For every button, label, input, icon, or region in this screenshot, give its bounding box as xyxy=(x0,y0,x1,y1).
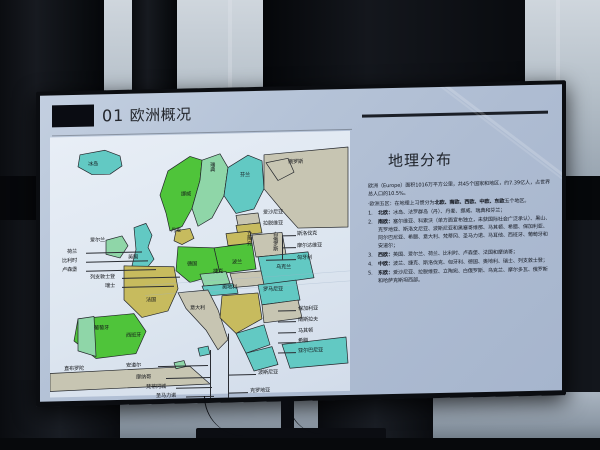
map-label: 瑞典 xyxy=(209,162,214,172)
five-regions-suffix: 五个地区。 xyxy=(504,198,529,205)
map-label: 瑞士 xyxy=(105,284,115,289)
region-item-name: 北欧： xyxy=(378,210,393,216)
five-regions-bold: 北欧、南欧、西欧、中欧、东欧 xyxy=(434,198,504,206)
region-item-number: 2. xyxy=(368,218,373,226)
map-label: 西班牙 xyxy=(126,333,141,339)
presentation-slide: 01 欧洲概况 xyxy=(40,84,562,401)
section-heading: 地理分布 xyxy=(388,149,452,171)
lower-window-right xyxy=(430,392,600,444)
tv-screen: 01 欧洲概况 xyxy=(40,84,562,401)
map-label: 比利时 xyxy=(62,259,77,265)
map-label: 白俄罗斯 xyxy=(272,232,277,251)
map-label: 摩尔达维亚 xyxy=(297,244,322,250)
region-list-item: 2.南欧：塞尔维亚、科索沃（单方面宣布独立，未获国际社会广泛承认）、黑山、克罗地… xyxy=(377,214,552,251)
map-label: 亚尔巴尼亚 xyxy=(298,349,323,355)
map-label: 匈牙利 xyxy=(297,256,312,262)
region-item-name: 西欧： xyxy=(378,252,393,258)
television: 01 欧洲概况 xyxy=(36,80,566,407)
map-label: 安道尔 xyxy=(126,363,141,369)
section-body: 欧洲（Europe）面积1016万平方公里，共45个国家和地区，约7.39亿人，… xyxy=(368,179,552,287)
map-label: 意大利 xyxy=(190,306,205,312)
map-label: 德国 xyxy=(187,262,197,267)
map-label: 丹麦 xyxy=(171,229,181,234)
region-item-name: 南欧： xyxy=(378,218,393,224)
map-label: 列支敦士登 xyxy=(90,275,115,281)
map-label: 南斯拉夫 xyxy=(298,318,318,324)
map-label: 法国 xyxy=(146,298,156,303)
geography-panel: 地理分布 欧洲（Europe）面积1016万平方公里，共45个国家和地区，约7.… xyxy=(362,110,554,388)
map-label: 拉脱维亚 xyxy=(263,221,283,227)
five-regions-prefix: ·欧洲五区：在地理上习惯分为 xyxy=(368,200,434,207)
map-label: 波斯尼亚 xyxy=(258,371,278,377)
map-label: 葡萄牙 xyxy=(94,326,109,332)
region-list-item: 5.东欧：爱沙尼亚、拉脱维亚、立陶宛、白俄罗斯、乌克兰、摩尔多瓦、俄罗斯和哈萨克… xyxy=(377,265,552,285)
region-item-countries: 爱沙尼亚、拉脱维亚、立陶宛、白俄罗斯、乌克兰、摩尔多瓦、俄罗斯和哈萨克斯坦西部。 xyxy=(378,266,548,284)
map-label: 俄罗斯 xyxy=(288,160,303,166)
map-label: 直布罗陀 xyxy=(64,367,84,373)
region-item-countries: 塞尔维亚、科索沃（单方面宣布独立，未获国际社会广泛承认）、黑山、克罗地亚、斯洛文… xyxy=(378,215,550,250)
map-label: 冰岛 xyxy=(88,162,98,167)
region-item-number: 4. xyxy=(368,260,373,268)
map-label: 波兰 xyxy=(232,260,242,265)
map-label: 英国 xyxy=(128,256,138,261)
europe-map-panel: 冰岛挪威瑞典芬兰俄罗斯爱尔兰英国丹麦爱沙尼亚拉脱维亚立陶宛白俄罗斯斯洛伐克摩尔达… xyxy=(50,131,350,398)
map-label: 克罗地亚 xyxy=(250,389,270,395)
map-label: 卢森堡 xyxy=(62,268,77,274)
map-label: 梵蒂冈城 xyxy=(146,385,166,391)
region-item-name: 中欧： xyxy=(378,261,393,267)
leader-line xyxy=(228,334,229,402)
page-title: 01 欧洲概况 xyxy=(102,103,192,126)
floor-shadow xyxy=(0,438,600,450)
map-label: 乌克兰 xyxy=(276,265,291,271)
map-label: 奥地利 xyxy=(222,285,237,291)
leader-line xyxy=(210,350,211,402)
map-label: 爱沙尼亚 xyxy=(263,210,283,216)
region-item-number: 5. xyxy=(368,269,373,277)
map-label: 立陶宛 xyxy=(246,231,251,246)
europe-map-graphic xyxy=(50,131,350,400)
map-label: 摩纳哥 xyxy=(136,375,151,381)
map-label: 荷兰 xyxy=(67,250,77,255)
title-accent-block xyxy=(52,105,94,128)
slide-number: 01 xyxy=(102,106,124,125)
map-label: 马其顿 xyxy=(298,329,313,335)
map-label: 圣马力诺 xyxy=(156,394,176,400)
photo-scene: 01 欧洲概况 xyxy=(0,0,600,450)
map-label: 希腊 xyxy=(298,339,308,344)
map-label: 保加利亚 xyxy=(298,307,318,313)
map-label: 罗马尼亚 xyxy=(263,287,283,293)
leader-line xyxy=(282,235,283,259)
region-item-number: 1. xyxy=(368,209,373,217)
map-label: 捷克 xyxy=(213,270,223,275)
region-list: 1.北欧：冰岛、法罗群岛（丹）、丹麦、挪威、瑞典和芬兰；2.南欧：塞尔维亚、科索… xyxy=(368,205,552,285)
map-label: 挪威 xyxy=(181,192,191,197)
panel-divider xyxy=(362,111,548,118)
slide-title-text: 欧洲概况 xyxy=(130,105,192,124)
map-label: 爱尔兰 xyxy=(90,238,105,244)
map-label: 芬兰 xyxy=(240,173,250,178)
region-item-name: 东欧： xyxy=(378,269,393,275)
map-label: 斯洛伐克 xyxy=(297,232,317,238)
region-item-number: 3. xyxy=(368,251,373,259)
